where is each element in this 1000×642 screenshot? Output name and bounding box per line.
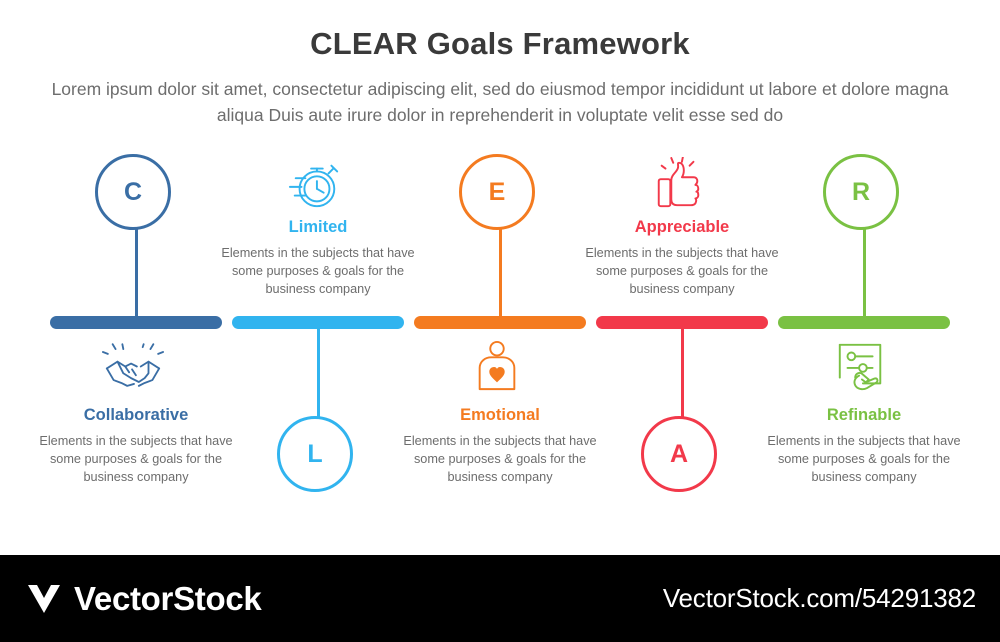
column-heading: Emotional <box>400 406 600 425</box>
brand: VectorStock <box>24 579 261 619</box>
infographic-canvas: CLEAR Goals Framework Lorem ipsum dolor … <box>0 0 1000 555</box>
letter-badge-l: L <box>277 416 353 492</box>
column-description: Elements in the subjects that have some … <box>578 244 786 298</box>
brand-name: VectorStock <box>74 580 261 618</box>
letter-badge-label: C <box>124 178 142 207</box>
column-heading: Appreciable <box>582 218 782 237</box>
letter-badge-e: E <box>459 154 535 230</box>
column-description: Elements in the subjects that have some … <box>32 432 240 486</box>
footer-bar: VectorStock VectorStock.com/54291382 <box>0 555 1000 642</box>
letter-badge-label: A <box>670 440 688 469</box>
checklist-hand-icon <box>824 336 898 396</box>
column-emotional[interactable]: E Emotional Elements in the subjects tha… <box>400 140 600 520</box>
column-heading: Collaborative <box>36 406 236 425</box>
stopwatch-icon <box>278 154 352 214</box>
divider-bar <box>414 316 586 329</box>
column-refinable[interactable]: R Refinable Elements in the subjects tha… <box>764 140 964 520</box>
letter-badge-r: R <box>823 154 899 230</box>
column-limited[interactable]: Limited Elements in the subjects that ha… <box>218 140 418 520</box>
thumbs-up-icon <box>642 154 716 214</box>
column-heading: Limited <box>218 218 418 237</box>
divider-bar <box>232 316 404 329</box>
poster: CLEAR Goals Framework Lorem ipsum dolor … <box>0 0 1000 642</box>
letter-badge-label: R <box>852 178 870 207</box>
vectorstock-logo-icon <box>24 579 64 619</box>
letter-badge-label: E <box>489 178 506 207</box>
footer-url: VectorStock.com/54291382 <box>663 583 976 614</box>
page-title: CLEAR Goals Framework <box>0 26 1000 62</box>
divider-bar <box>778 316 950 329</box>
letter-badge-label: L <box>307 440 322 469</box>
page-subtitle: Lorem ipsum dolor sit amet, consectetur … <box>50 76 950 128</box>
column-appreciable[interactable]: Appreciable Elements in the subjects tha… <box>582 140 782 520</box>
column-heading: Refinable <box>764 406 964 425</box>
handshake-icon <box>96 336 170 396</box>
column-description: Elements in the subjects that have some … <box>396 432 604 486</box>
column-collaborative[interactable]: C Col <box>36 140 236 520</box>
divider-bar <box>50 316 222 329</box>
letter-badge-a: A <box>641 416 717 492</box>
letter-badge-c: C <box>95 154 171 230</box>
column-description: Elements in the subjects that have some … <box>214 244 422 298</box>
person-heart-icon <box>460 336 534 396</box>
divider-bar <box>596 316 768 329</box>
column-description: Elements in the subjects that have some … <box>760 432 968 486</box>
